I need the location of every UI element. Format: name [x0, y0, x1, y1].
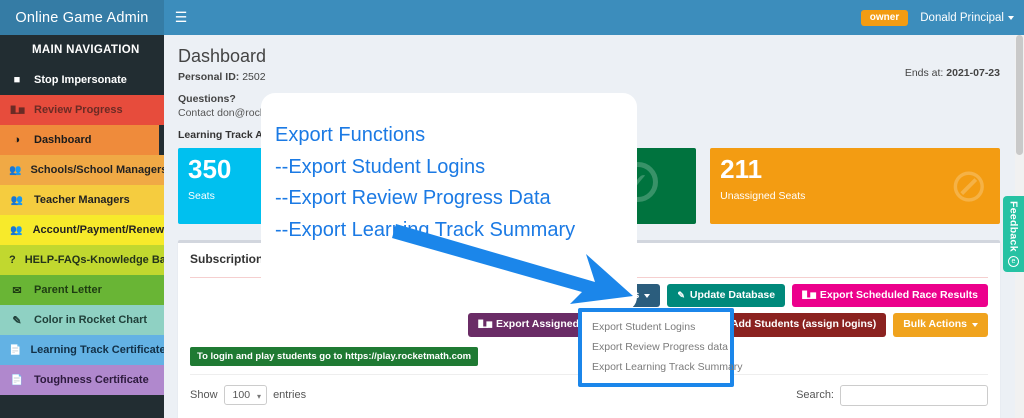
ends-at-value: 2021-07-23 — [946, 67, 1000, 79]
export-functions-dropdown[interactable]: Export Student LoginsExport Review Progr… — [578, 308, 734, 387]
users-icon: 👥 — [9, 165, 21, 176]
file-icon: 📄 — [9, 375, 25, 386]
brand-title: Online Game Admin — [15, 10, 148, 26]
status-badge: owner — [861, 10, 908, 26]
feedback-tab[interactable]: Feedback e — [1003, 196, 1024, 272]
chevron-down-icon — [1008, 16, 1014, 20]
entries-select-value: 100 — [233, 389, 251, 401]
personal-id: Personal ID: 2502 — [178, 71, 1010, 83]
sidebar-item-label: Parent Letter — [34, 284, 102, 296]
button-label: Bulk Actions — [903, 319, 967, 331]
edit-icon: ✎ — [9, 314, 25, 327]
feedback-label: Feedback — [1008, 201, 1020, 252]
navbar-right: owner Donald Principal — [861, 10, 1024, 26]
bar-chart-icon: █▁▆ — [802, 292, 815, 300]
show-label: Show — [190, 389, 218, 401]
entries-label: entries — [273, 389, 306, 401]
export-scheduled-race-results-button[interactable]: █▁▆Export Scheduled Race Results — [792, 284, 988, 308]
sidebar-item-color-in-rocket-chart[interactable]: ✎Color in Rocket Chart — [0, 305, 164, 335]
sidebar-item-account-payment-renew[interactable]: 👥Account/Payment/Renew — [0, 215, 164, 245]
feedback-circle-icon: e — [1008, 256, 1019, 267]
top-navbar: ☰ owner Donald Principal — [164, 0, 1024, 35]
user-name-label: Donald Principal — [920, 12, 1004, 24]
sidebar-item-label: Account/Payment/Renew — [33, 224, 164, 236]
scrollbar-thumb[interactable] — [1016, 35, 1023, 155]
sidebar-item-label: Stop Impersonate — [34, 74, 127, 86]
file-icon: 📄 — [9, 345, 21, 356]
sidebar-item-schools-school-managers[interactable]: 👥Schools/School Managers — [0, 155, 164, 185]
page-title: Dashboard — [178, 47, 1010, 67]
pencil-icon: ✎ — [677, 291, 685, 301]
bar-chart-icon: █▁▆ — [9, 106, 25, 114]
update-database-button[interactable]: ✎Update Database — [667, 284, 785, 308]
bulk-actions-button[interactable]: Bulk Actions — [893, 313, 988, 337]
search-input[interactable] — [840, 385, 988, 406]
users-icon: 👥 — [9, 225, 24, 236]
sidebar-item-label: Color in Rocket Chart — [34, 314, 147, 326]
annotation-line-0: Export Functions — [275, 120, 645, 152]
button-label: Update Database — [690, 290, 775, 302]
caret-down-icon — [644, 294, 650, 298]
menu-item-export-learning-track-summary[interactable]: Export Learning Track Summary — [582, 357, 730, 377]
ban-icon: ⊘ — [949, 162, 988, 208]
personal-id-value: 2502 — [242, 71, 265, 83]
user-menu[interactable]: Donald Principal — [920, 12, 1014, 24]
sidebar-item-help-faqs-knowledge-base[interactable]: ?HELP-FAQs-Knowledge Base — [0, 245, 164, 275]
sidebar-item-label: Learning Track Certificates — [30, 344, 164, 356]
ends-at: Ends at: 2021-07-23 — [905, 67, 1000, 79]
envelope-icon: ✉ — [9, 284, 25, 297]
annotation-line-2: --Export Review Progress Data — [275, 183, 645, 215]
login-instructions-note: To login and play students go to https:/… — [190, 347, 478, 366]
app-root: Online Game Admin ☰ owner Donald Princip… — [0, 0, 1024, 418]
arrow-pointer-icon — [390, 220, 640, 310]
sidebar-item-label: Schools/School Managers — [30, 164, 164, 176]
sidebar-item-label: Review Progress — [34, 104, 123, 116]
show-entries-control: Show 100 ▾ entries — [190, 385, 306, 405]
question-circle-icon: ? — [9, 254, 16, 266]
sidebar-item-label: Teacher Managers — [34, 194, 130, 206]
stop-square-icon: ■ — [9, 74, 25, 86]
sidebar-item-review-progress[interactable]: █▁▆Review Progress — [0, 95, 164, 125]
caret-down-icon — [972, 323, 978, 327]
sidebar-header: MAIN NAVIGATION — [0, 35, 164, 65]
sidebar-item-learning-track-certificates[interactable]: 📄Learning Track Certificates — [0, 335, 164, 365]
sidebar-item-teacher-managers[interactable]: 👥Teacher Managers — [0, 185, 164, 215]
stat-box-2: 211Unassigned Seats⊘ — [710, 148, 1000, 224]
personal-id-label: Personal ID: — [178, 71, 239, 83]
sidebar-item-label: Toughness Certificate — [34, 374, 149, 386]
users-icon: 👥 — [9, 195, 25, 206]
sidebar-item-stop-impersonate[interactable]: ■Stop Impersonate — [0, 65, 164, 95]
brand-logo[interactable]: Online Game Admin — [0, 0, 164, 35]
dashboard-icon: ◑ — [9, 134, 25, 146]
sidebar-item-parent-letter[interactable]: ✉Parent Letter — [0, 275, 164, 305]
chevron-down-icon: ▾ — [257, 392, 261, 401]
button-label: Export Scheduled Race Results — [820, 290, 978, 302]
sidebar: MAIN NAVIGATION ■Stop Impersonate█▁▆Revi… — [0, 35, 164, 418]
table-header-row — [190, 412, 988, 418]
menu-item-export-student-logins[interactable]: Export Student Logins — [582, 317, 730, 337]
annotation-line-1: --Export Student Logins — [275, 152, 645, 184]
bar-chart-icon: █▁▆ — [478, 321, 491, 329]
sidebar-item-label: Dashboard — [34, 134, 91, 146]
hamburger-icon[interactable]: ☰ — [164, 0, 198, 35]
sidebar-menu: ■Stop Impersonate█▁▆Review Progress◑Dash… — [0, 65, 164, 395]
sidebar-item-toughness-certificate[interactable]: 📄Toughness Certificate — [0, 365, 164, 395]
sidebar-item-dashboard[interactable]: ◑Dashboard — [0, 125, 164, 155]
button-label: Add Students (assign logins) — [731, 319, 876, 331]
entries-select[interactable]: 100 ▾ — [224, 385, 268, 405]
search-control: Search: — [796, 385, 988, 406]
sidebar-item-label: HELP-FAQs-Knowledge Base — [25, 254, 164, 266]
search-label: Search: — [796, 389, 834, 401]
menu-item-export-review-progress-data[interactable]: Export Review Progress data — [582, 337, 730, 357]
ends-at-label: Ends at: — [905, 67, 944, 79]
